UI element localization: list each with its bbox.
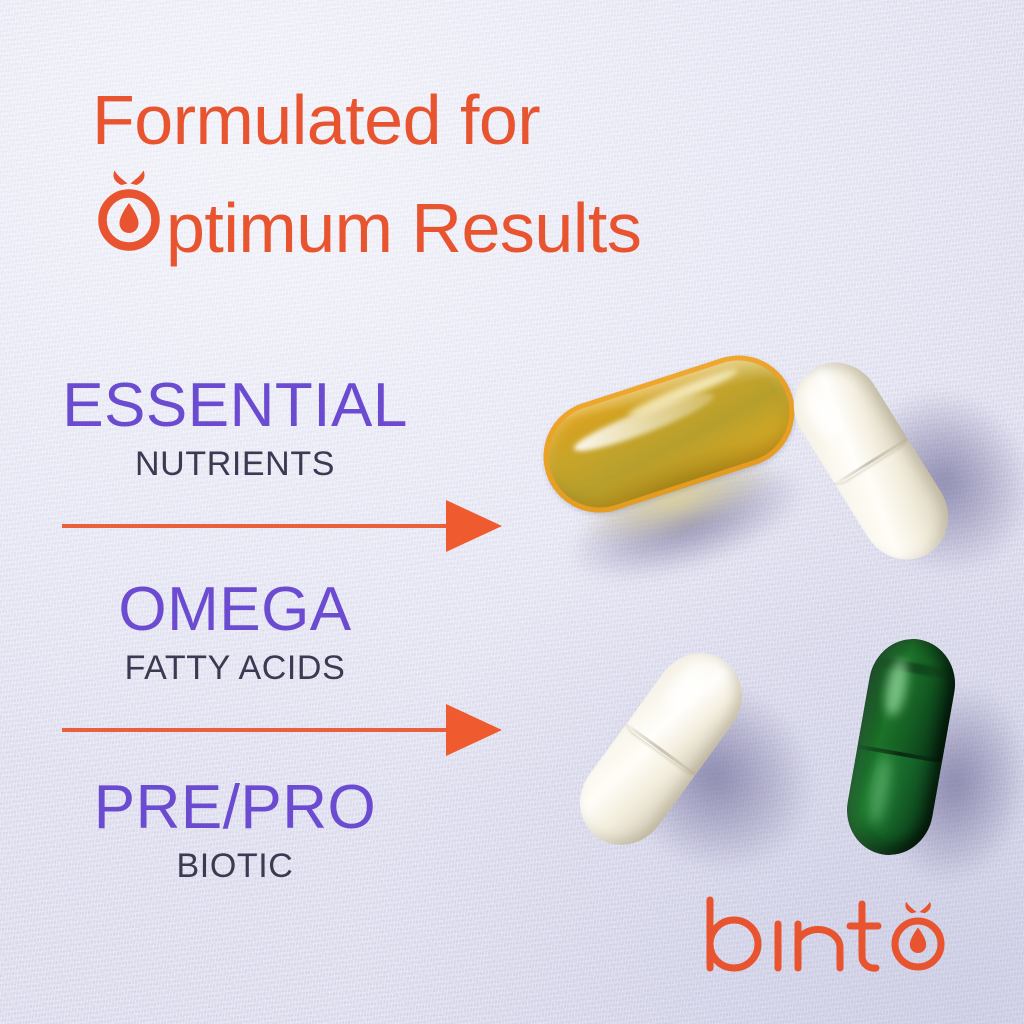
headline-line-2: ptimum Results bbox=[92, 166, 792, 258]
benefit-title: OMEGA bbox=[0, 578, 470, 642]
benefit-essential-nutrients: ESSENTIAL NUTRIENTS bbox=[0, 374, 470, 484]
benefit-subtitle: BIOTIC bbox=[0, 846, 470, 886]
benefit-subtitle: FATTY ACIDS bbox=[0, 648, 470, 688]
headline-line-2-text: ptimum Results bbox=[166, 182, 641, 274]
benefit-pre-pro-biotic: PRE/PRO BIOTIC bbox=[0, 776, 470, 886]
arrow-essential-to-pills bbox=[62, 500, 502, 554]
headline-line-1: Formulated for bbox=[92, 74, 792, 166]
benefit-subtitle: NUTRIENTS bbox=[0, 444, 470, 484]
headline: Formulated for ptimum Results bbox=[92, 74, 792, 258]
benefit-title: PRE/PRO bbox=[0, 776, 470, 840]
benefit-title: ESSENTIAL bbox=[0, 374, 470, 438]
binto-drop-o-icon bbox=[895, 902, 941, 967]
benefit-omega-fatty-acids: OMEGA FATTY ACIDS bbox=[0, 578, 470, 688]
binto-logo[interactable] bbox=[700, 896, 960, 976]
arrow-omega-to-pills bbox=[62, 704, 502, 758]
product-graphic-canvas: Formulated for ptimum Results ESSENTIAL … bbox=[0, 0, 1024, 1024]
binto-drop-o-icon bbox=[92, 166, 166, 252]
